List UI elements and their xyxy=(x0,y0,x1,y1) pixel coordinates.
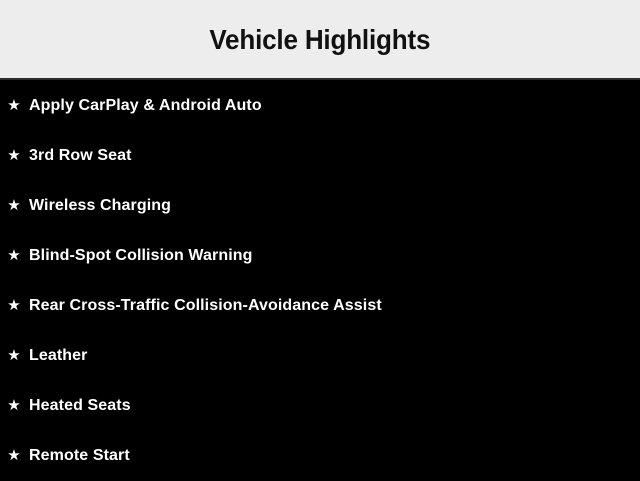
list-item-label: Wireless Charging xyxy=(29,198,171,214)
star-icon: ★ xyxy=(7,248,21,263)
list-item: ★ Rear Cross-Traffic Collision-Avoidance… xyxy=(0,281,640,331)
vehicle-highlights-list: ★ Apply CarPlay & Android Auto ★ 3rd Row… xyxy=(0,80,640,480)
star-icon: ★ xyxy=(7,198,21,213)
list-item-label: Heated Seats xyxy=(29,398,131,414)
star-icon: ★ xyxy=(7,98,21,113)
page-title: Vehicle Highlights xyxy=(210,26,431,54)
list-item: ★ Remote Start xyxy=(0,431,640,481)
list-item: ★ 3rd Row Seat xyxy=(0,131,640,181)
list-item-label: Leather xyxy=(29,348,88,364)
list-item: ★ Heated Seats xyxy=(0,381,640,431)
star-icon: ★ xyxy=(7,448,21,463)
list-item-label: Rear Cross-Traffic Collision-Avoidance A… xyxy=(29,298,382,314)
vehicle-highlights-panel: Vehicle Highlights ★ Apply CarPlay & And… xyxy=(0,0,640,480)
star-icon: ★ xyxy=(7,398,21,413)
list-item-label: Blind-Spot Collision Warning xyxy=(29,248,253,264)
header-band: Vehicle Highlights xyxy=(0,0,640,78)
list-item: ★ Wireless Charging xyxy=(0,181,640,231)
list-item-label: Apply CarPlay & Android Auto xyxy=(29,98,262,114)
star-icon: ★ xyxy=(7,298,21,313)
list-item-label: 3rd Row Seat xyxy=(29,148,132,164)
star-icon: ★ xyxy=(7,148,21,163)
list-item-label: Remote Start xyxy=(29,448,130,464)
list-item: ★ Leather xyxy=(0,331,640,381)
list-item: ★ Blind-Spot Collision Warning xyxy=(0,231,640,281)
star-icon: ★ xyxy=(7,348,21,363)
list-item: ★ Apply CarPlay & Android Auto xyxy=(0,81,640,131)
